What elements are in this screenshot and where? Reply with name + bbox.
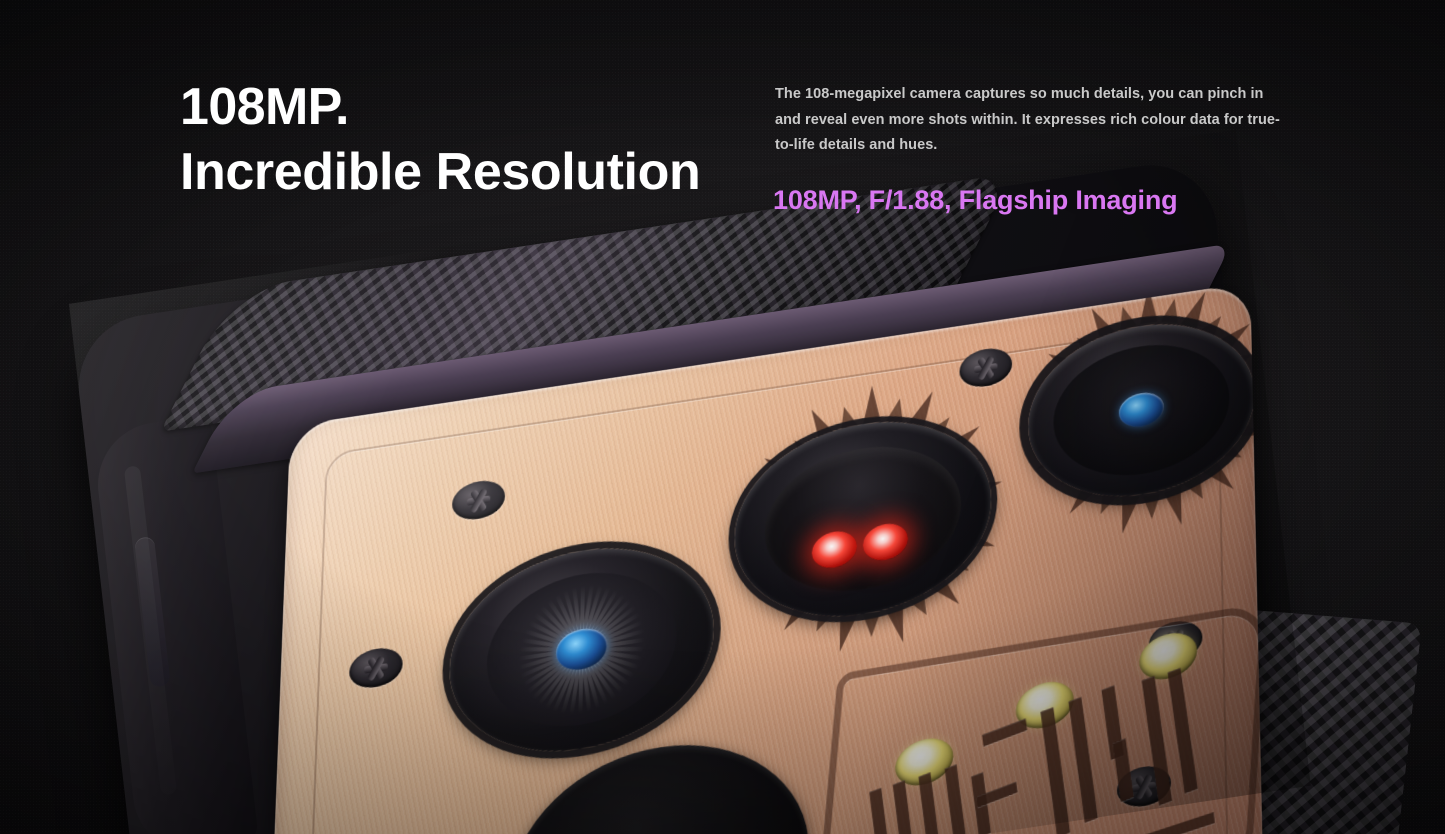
lens-flute [580,574,606,650]
lens-flute [517,648,582,701]
engraved-glyph-bar [982,718,1027,746]
lens-flute [530,648,583,715]
ir-led-left [812,528,857,571]
description-paragraph: The 108-megapixel camera captures so muc… [775,82,1280,159]
sunburst-ray [1161,298,1183,323]
lens-flute [581,647,650,672]
wide-camera-glass [1119,390,1164,430]
lens-flute [580,648,631,701]
sunburst-ray [1235,397,1260,415]
sunburst-ray [1056,462,1085,491]
main-camera-glass [556,625,608,673]
sunburst-ray [1114,303,1137,331]
sunburst-ray [908,590,935,620]
engraved-glyph-bar [945,764,970,834]
lens-flute [581,626,655,652]
engraved-glyph-bar [1113,738,1134,802]
lens-flute [523,648,583,709]
engraved-glyph-bar [1168,668,1198,794]
sunburst-ray [1045,376,1073,398]
lens-flute [519,616,583,651]
lens-flute [568,649,584,726]
lens-flute [548,649,584,724]
sunburst-ray [836,403,859,432]
ir-well [765,434,961,604]
lens-flute [551,584,584,650]
promo-banner: 108MP. Incredible Resolution The 108-meg… [0,0,1445,834]
lens-flute [541,591,583,651]
lens-flute [514,626,582,651]
led-flash-panel [816,602,1264,834]
sunburst-ray [740,511,779,530]
lens-flute [580,576,616,650]
lens-flute [580,648,613,715]
engraved-glyph-bar [1142,676,1172,806]
lens-flute [580,584,632,650]
phone-side-button [134,536,171,688]
sunburst-ray [957,529,998,555]
sunburst-ray [956,451,984,478]
wide-camera-lens [1027,309,1256,511]
led-flash-2 [1014,678,1075,733]
lens-flute [581,598,646,651]
sunburst-ray [809,605,836,634]
lens-flute [580,649,593,724]
sunburst-ray [1184,474,1211,504]
sunburst-ray [1032,443,1073,477]
lens-flute [580,574,585,650]
lens-flute [508,647,582,673]
sunburst-ray [1234,367,1264,394]
main-camera-lens [447,531,715,769]
sunburst-ray [1202,458,1240,496]
lens-flute-ring [485,560,678,740]
sunburst-ray [886,603,912,646]
sunburst-ray [908,389,941,430]
sunburst-ray [944,420,985,459]
sunburst-ray [863,612,881,639]
sunburst-ray [944,552,974,579]
sunburst-ray [804,404,837,445]
headline-line-1: 108MP. [180,75,700,140]
sunburst-ray [754,534,779,558]
lens-flute [557,649,583,726]
engraved-glyph-bar [869,788,893,834]
sunburst-ray [745,556,786,590]
sunburst-ray [1143,494,1161,520]
sunburst-ray [788,434,817,463]
sunburst-ray [1114,495,1140,535]
headline-line-2: Incredible Resolution [180,140,700,205]
sunburst-ray [1217,439,1246,466]
sunburst-ray [831,613,857,653]
lens-flute [581,647,645,682]
sunburst-ray [964,505,989,524]
lens-flute [580,648,603,719]
lens-flute [578,649,583,725]
sunburst-ray [1093,488,1119,517]
lens-flute [509,647,582,683]
lens-flute [580,590,639,650]
lens-flute [581,615,654,651]
sunburst-ring-center [733,405,991,634]
sunburst-ray [1043,346,1083,378]
engraved-glyph-bar [893,780,918,834]
engraved-underline [842,812,1215,834]
ir-led-right [863,520,908,563]
lens-flute [507,647,581,662]
lens-flute [581,606,651,651]
engraved-glyph-bar [1101,685,1124,760]
wide-camera-barrel [1052,333,1231,487]
sunburst-ray [1063,477,1101,519]
hex-screw-top-left [452,477,506,522]
hex-screw-top-mid [959,345,1012,390]
wireless-charging-pad [506,725,810,834]
lens-flute [533,598,583,651]
spec-tagline: 108MP, F/1.88, Flagship Imaging [773,185,1177,216]
lens-flute [580,573,596,649]
page-title: 108MP. Incredible Resolution [180,75,700,205]
hex-screw-left [349,645,403,691]
sunburst-ray [1228,418,1264,444]
sunburst-ray [863,384,881,424]
lens-flute [525,607,583,651]
lens-flute [538,648,583,720]
hex-screw-bottom-right [1117,763,1172,810]
sunburst-ray [1027,402,1066,421]
sunburst-ray [1084,303,1117,343]
sunburst-ray [759,483,787,506]
sunburst-ray [1070,331,1099,360]
sunburst-ring-right [1027,309,1256,511]
sunburst-ray [1215,317,1255,355]
engraved-glyph-bar [1068,697,1097,823]
sunburst-ray [759,450,799,483]
led-flash-1 [893,734,955,789]
lens-flute [571,576,584,650]
sunburst-ray [927,412,956,442]
sunburst-ray [1164,486,1191,528]
lens-flute [510,637,582,652]
engraved-glyph-bar [976,782,1017,808]
lens-flute [560,579,583,650]
lens-flute [580,647,638,692]
sunburst-ray [777,593,815,635]
engraved-glyph-bar [971,772,991,834]
lens-flute [581,647,655,651]
hex-screw-top-right [1118,388,1171,433]
lens-flute [580,648,622,708]
engraved-glyph-bar [1040,707,1070,834]
lens-flute [508,647,582,651]
engraved-glyph-bar [918,772,943,834]
sunburst-ray [928,572,966,611]
sunburst-ray [769,576,798,606]
lens-flute [582,636,656,651]
led-flash-3 [1138,629,1199,684]
sunburst-ray [1227,347,1255,374]
sunburst-ray [1041,423,1067,447]
sunburst-ray [1199,311,1227,340]
sunburst-ray [886,398,909,423]
sunburst-ray [1181,289,1213,330]
hex-screw-right [1149,618,1203,664]
lens-flute [581,647,653,662]
sunburst-ray [964,473,1003,500]
lens-flute [580,579,624,650]
lens-flute [513,647,583,692]
night-vision-module [733,405,991,634]
